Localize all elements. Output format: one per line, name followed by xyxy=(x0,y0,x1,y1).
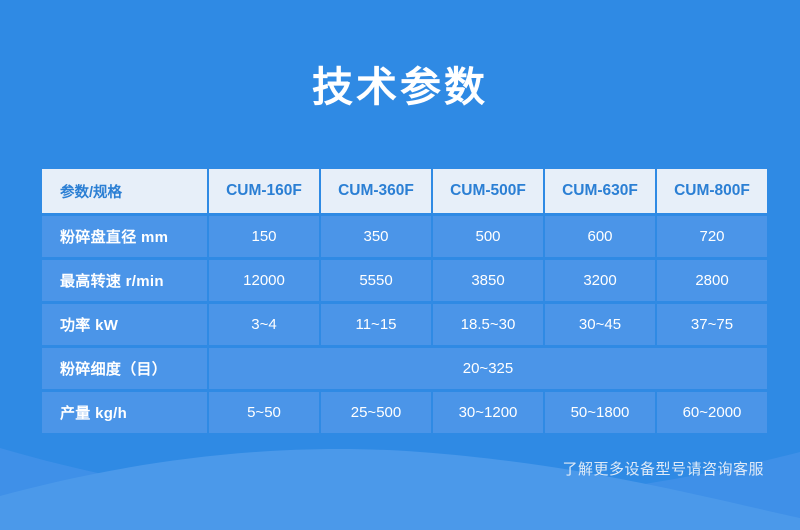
technical-parameters-table: 参数/规格 CUM-160F CUM-360F CUM-500F CUM-630… xyxy=(40,166,769,436)
table-cell: 150 xyxy=(209,216,319,257)
table-row: 功率 kW 3~4 11~15 18.5~30 30~45 37~75 xyxy=(42,304,767,345)
table-row: 产量 kg/h 5~50 25~500 30~1200 50~1800 60~2… xyxy=(42,392,767,433)
row-label: 最高转速 r/min xyxy=(42,260,207,301)
column-header-model-4: CUM-630F xyxy=(545,169,655,213)
table-cell: 350 xyxy=(321,216,431,257)
column-header-param: 参数/规格 xyxy=(42,169,207,213)
table-row: 粉碎盘直径 mm 150 350 500 600 720 xyxy=(42,216,767,257)
table-cell: 720 xyxy=(657,216,767,257)
table-cell: 11~15 xyxy=(321,304,431,345)
table-cell: 60~2000 xyxy=(657,392,767,433)
table-cell: 30~45 xyxy=(545,304,655,345)
table-cell: 3850 xyxy=(433,260,543,301)
column-header-model-3: CUM-500F xyxy=(433,169,543,213)
table-row: 最高转速 r/min 12000 5550 3850 3200 2800 xyxy=(42,260,767,301)
row-label: 功率 kW xyxy=(42,304,207,345)
table-row: 粉碎细度（目） 20~325 xyxy=(42,348,767,389)
table-cell: 18.5~30 xyxy=(433,304,543,345)
column-header-model-2: CUM-360F xyxy=(321,169,431,213)
table-cell: 5550 xyxy=(321,260,431,301)
table-cell: 500 xyxy=(433,216,543,257)
page-title: 技术参数 xyxy=(0,63,800,112)
table-cell: 37~75 xyxy=(657,304,767,345)
table-cell: 600 xyxy=(545,216,655,257)
table-cell: 25~500 xyxy=(321,392,431,433)
row-label: 粉碎盘直径 mm xyxy=(42,216,207,257)
row-label: 粉碎细度（目） xyxy=(42,348,207,389)
table-cell: 3200 xyxy=(545,260,655,301)
row-label: 产量 kg/h xyxy=(42,392,207,433)
table-cell: 2800 xyxy=(657,260,767,301)
table-cell: 30~1200 xyxy=(433,392,543,433)
table-cell-merged: 20~325 xyxy=(209,348,767,389)
footer-note: 了解更多设备型号请咨询客服 xyxy=(562,458,764,479)
column-header-model-1: CUM-160F xyxy=(209,169,319,213)
table-cell: 5~50 xyxy=(209,392,319,433)
column-header-model-5: CUM-800F xyxy=(657,169,767,213)
table-cell: 12000 xyxy=(209,260,319,301)
table-cell: 50~1800 xyxy=(545,392,655,433)
table-header-row: 参数/规格 CUM-160F CUM-360F CUM-500F CUM-630… xyxy=(42,169,767,213)
table-cell: 3~4 xyxy=(209,304,319,345)
